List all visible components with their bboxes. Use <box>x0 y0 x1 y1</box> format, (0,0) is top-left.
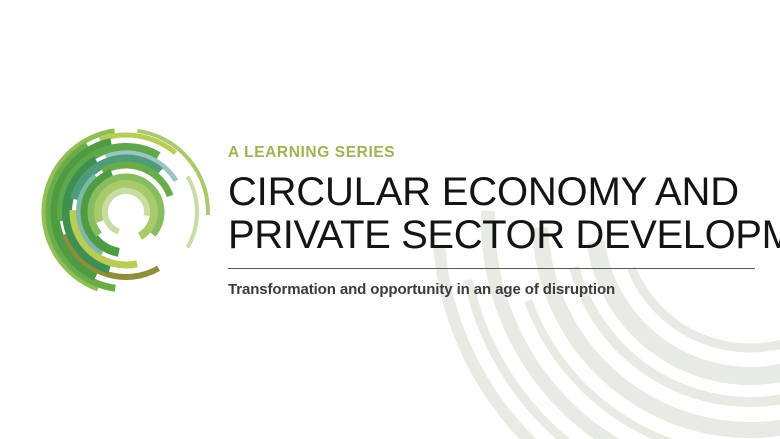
title-block: A LEARNING SERIES CIRCULAR ECONOMY AND P… <box>228 143 756 300</box>
page-title-line-2: PRIVATE SECTOR DEVELOPMENT <box>228 214 756 257</box>
eyebrow-label: A LEARNING SERIES <box>228 143 756 163</box>
title-divider <box>228 268 755 269</box>
page-title-line-1: CIRCULAR ECONOMY AND <box>228 171 756 214</box>
subtitle-text: Transformation and opportunity in an age… <box>228 280 756 300</box>
circular-economy-rings-logo <box>38 124 214 300</box>
slide-canvas: A LEARNING SERIES CIRCULAR ECONOMY AND P… <box>0 0 780 439</box>
